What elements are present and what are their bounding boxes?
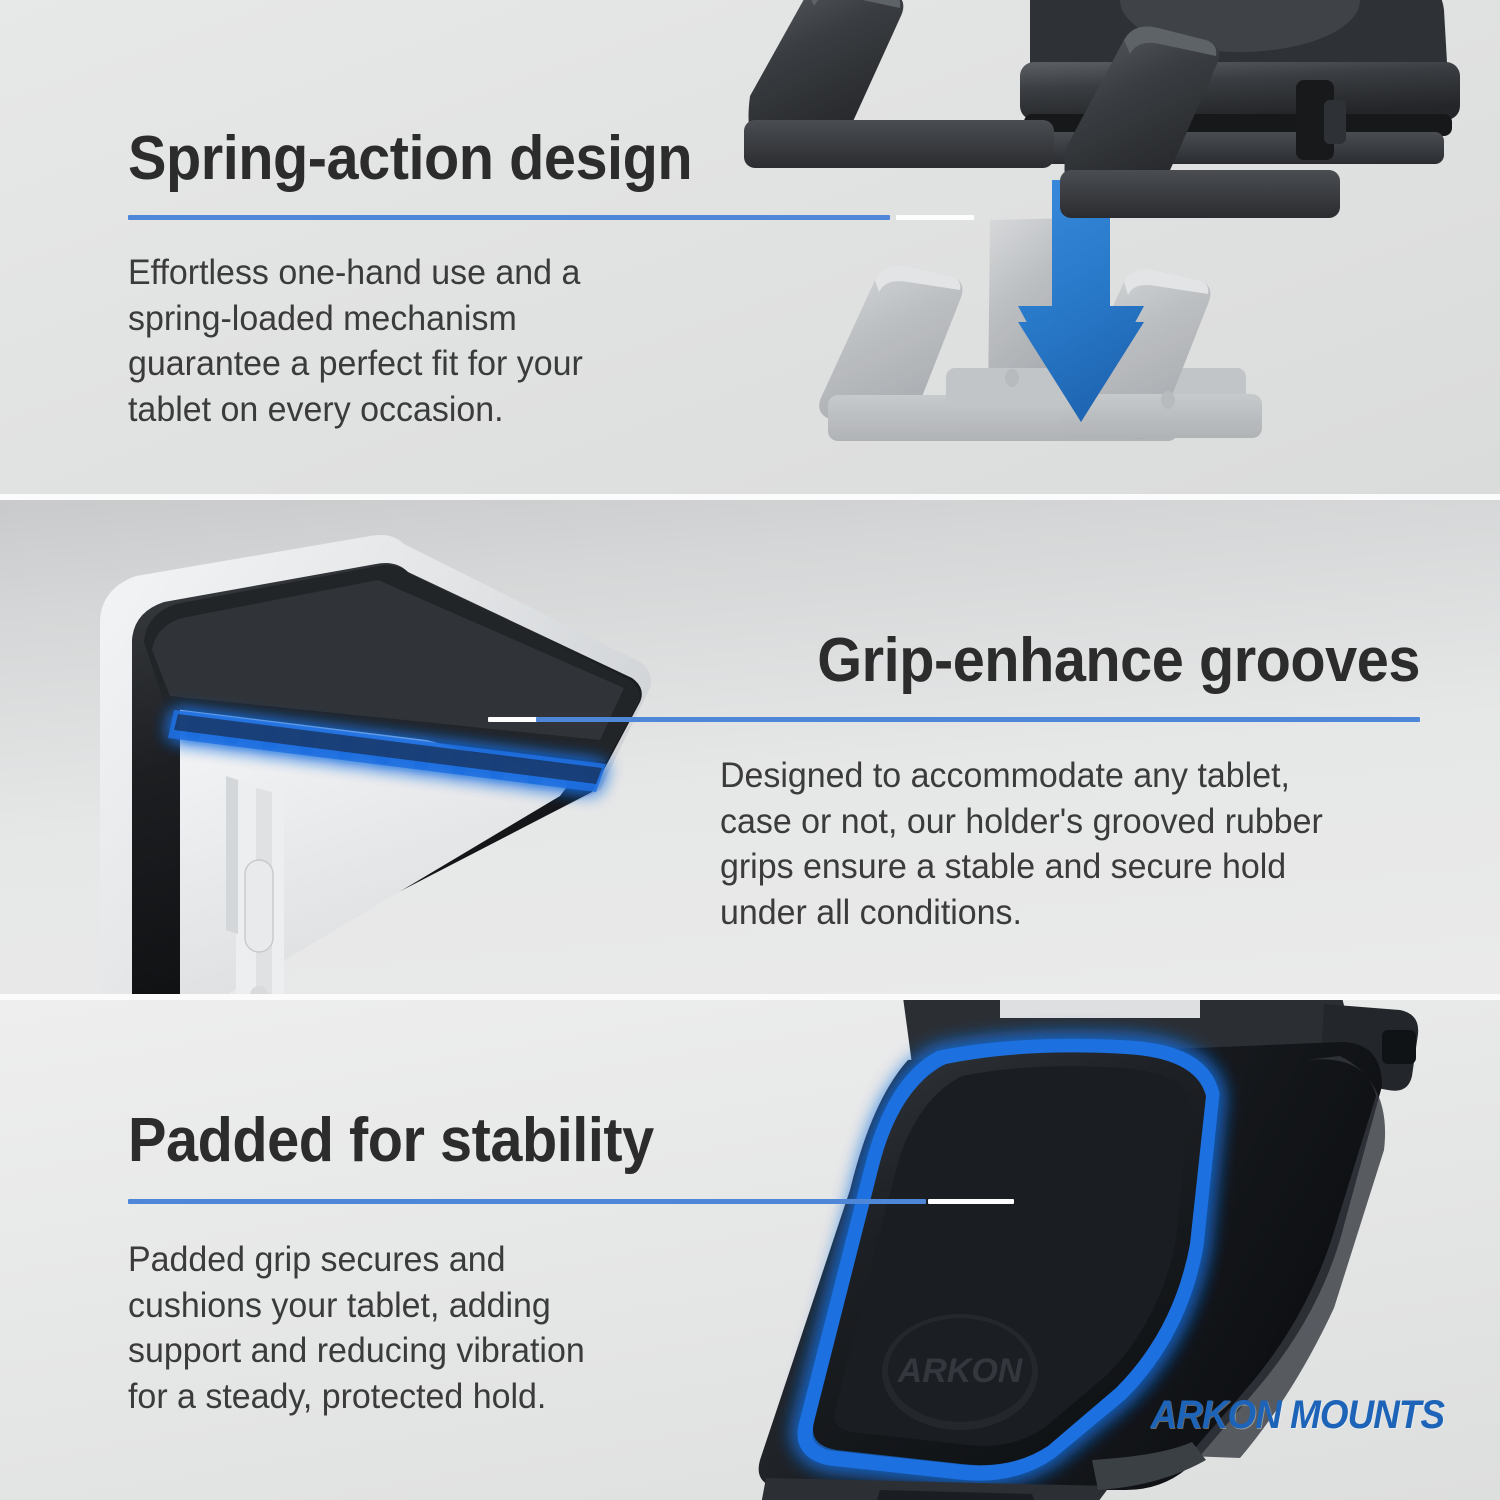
feature-body-spring-action: Effortless one-hand use and a spring-loa… xyxy=(128,250,918,432)
body-line: cushions your tablet, adding xyxy=(128,1283,991,1329)
body-line: Designed to accommodate any tablet, xyxy=(720,753,1399,799)
feature-body-padded-stability: Padded grip secures and cushions your ta… xyxy=(128,1237,1018,1419)
body-line: spring-loaded mechanism xyxy=(128,296,894,342)
arkon-mounts-logo: ARKON MOUNTS xyxy=(1150,1393,1444,1438)
body-line: case or not, our holder's grooved rubber xyxy=(720,799,1399,845)
body-line: grips ensure a stable and secure hold xyxy=(720,844,1399,890)
panel-divider-1 xyxy=(0,494,1500,500)
body-line: guarantee a perfect fit for your xyxy=(128,341,894,387)
feature-panel-padded-stability: ARKON Padded for stability Padded grip s… xyxy=(0,1000,1500,1500)
body-line: tablet on every occasion. xyxy=(128,387,894,433)
feature-text-spring-action: Spring-action design Effortless one-hand… xyxy=(128,128,918,432)
body-line: Padded grip secures and xyxy=(128,1237,991,1283)
panel-divider-2 xyxy=(0,994,1500,1000)
page-title-padded-stability: Padded for stability xyxy=(128,1110,956,1172)
accent-rule-1 xyxy=(128,214,970,221)
feature-panel-grip-enhance: Grip-enhance grooves Designed to accommo… xyxy=(0,500,1500,994)
body-line: support and reducing vibration xyxy=(128,1328,991,1374)
body-line: Effortless one-hand use and a xyxy=(128,250,894,296)
accent-rule-3 xyxy=(128,1198,1014,1205)
feature-text-padded-stability: Padded for stability Padded grip secures… xyxy=(128,1110,1018,1419)
accent-rule-white-2 xyxy=(488,717,540,722)
accent-rule-blue-1 xyxy=(128,215,890,220)
page-title-spring-action: Spring-action design xyxy=(128,128,863,190)
accent-rule-2 xyxy=(488,716,1420,723)
feature-text-grip-enhance: Grip-enhance grooves Designed to accommo… xyxy=(488,630,1420,935)
accent-rule-blue-2 xyxy=(536,717,1420,722)
feature-panel-spring-action: Spring-action design Effortless one-hand… xyxy=(0,0,1500,497)
feature-body-grip-enhance: Designed to accommodate any tablet, case… xyxy=(720,753,1420,935)
body-line: under all conditions. xyxy=(720,890,1399,936)
accent-rule-white-1 xyxy=(896,215,974,220)
body-line: for a steady, protected hold. xyxy=(128,1374,991,1420)
accent-rule-white-3 xyxy=(928,1199,1014,1204)
infographic-sheet: Spring-action design Effortless one-hand… xyxy=(0,0,1500,1500)
accent-rule-blue-3 xyxy=(128,1199,926,1204)
page-title-grip-enhance: Grip-enhance grooves xyxy=(553,630,1420,692)
